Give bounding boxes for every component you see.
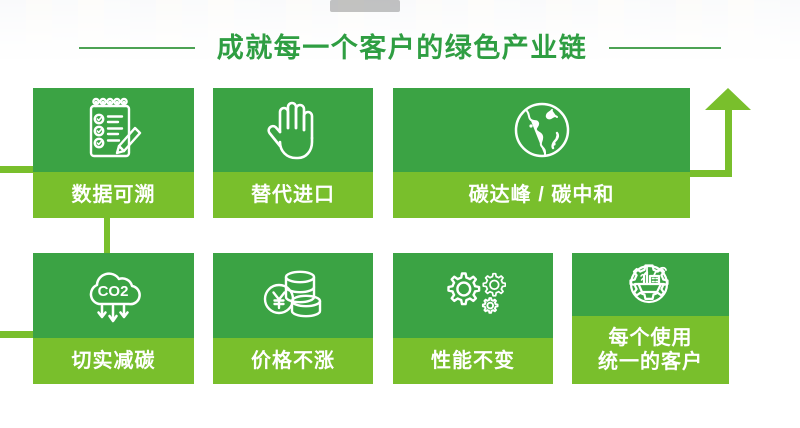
card-label: 性能不变 [393, 338, 553, 384]
card-label-line-2: 统一的客户 [598, 351, 703, 373]
up-arrow-head-icon [705, 88, 751, 110]
card-icon-panel: CO2 [33, 253, 194, 338]
card-data-traceability[interactable]: 数据可溯 [33, 88, 194, 218]
card-import-substitution[interactable]: 替代进口 [213, 88, 373, 218]
up-arrow-stem-vertical [725, 106, 732, 172]
card-icon-panel [393, 88, 690, 172]
card-icon-panel [33, 88, 194, 172]
globe-earth-icon [511, 99, 573, 161]
card-label: 价格不涨 [213, 338, 373, 384]
header: 成就每一个客户的绿色产业链 [0, 26, 800, 70]
card-icon-panel [213, 253, 373, 338]
card-label: 每个使用 统一的客户 [572, 316, 729, 384]
coin-stack-yuan-icon [260, 267, 326, 325]
card-label-line-1: 性能不变 [431, 350, 515, 372]
infographic-canvas: 成就每一个客户的绿色产业链 [0, 0, 800, 428]
card-label-line-1: 价格不涨 [251, 350, 335, 372]
card-label-line-1: 碳达峰 / 碳中和 [469, 184, 615, 206]
rule-right-icon [609, 47, 721, 49]
card-label-line-1: 切实减碳 [72, 350, 156, 372]
gears-icon [440, 267, 506, 325]
background-photo-dark-block [330, 0, 400, 12]
card-label: 碳达峰 / 碳中和 [393, 172, 690, 218]
card-label-line-1: 替代进口 [251, 184, 335, 206]
left-edge-connector-row1 [0, 166, 36, 173]
page-title: 成就每一个客户的绿色产业链 [217, 35, 588, 62]
card-carbon-peak-neutrality[interactable]: 碳达峰 / 碳中和 [393, 88, 690, 218]
card-label: 替代进口 [213, 172, 373, 218]
card-label: 数据可溯 [33, 172, 194, 218]
svg-text:CO2: CO2 [97, 283, 128, 300]
card-icon-panel [213, 88, 373, 172]
card-label-line-1: 每个使用 [609, 327, 693, 349]
vertical-connector [104, 215, 110, 257]
hand-stop-icon [265, 98, 321, 162]
card-label-line-1: 数据可溯 [72, 184, 156, 206]
card-carbon-reduction[interactable]: CO2 切实减碳 [33, 253, 194, 384]
co2-cloud-reduction-icon: CO2 [79, 266, 149, 326]
card-performance-unchanged[interactable]: 性能不变 [393, 253, 553, 384]
rule-left-icon [79, 47, 195, 49]
card-unified-customers[interactable]: 每个使用 统一的客户 [572, 253, 729, 384]
card-icon-panel [393, 253, 553, 338]
factory-gear-icon [621, 256, 681, 314]
left-edge-connector-row2 [0, 331, 36, 338]
clipboard-checklist-pencil-icon [83, 97, 145, 163]
card-icon-panel [572, 253, 729, 316]
card-price-stable[interactable]: 价格不涨 [213, 253, 373, 384]
card-label: 切实减碳 [33, 338, 194, 384]
